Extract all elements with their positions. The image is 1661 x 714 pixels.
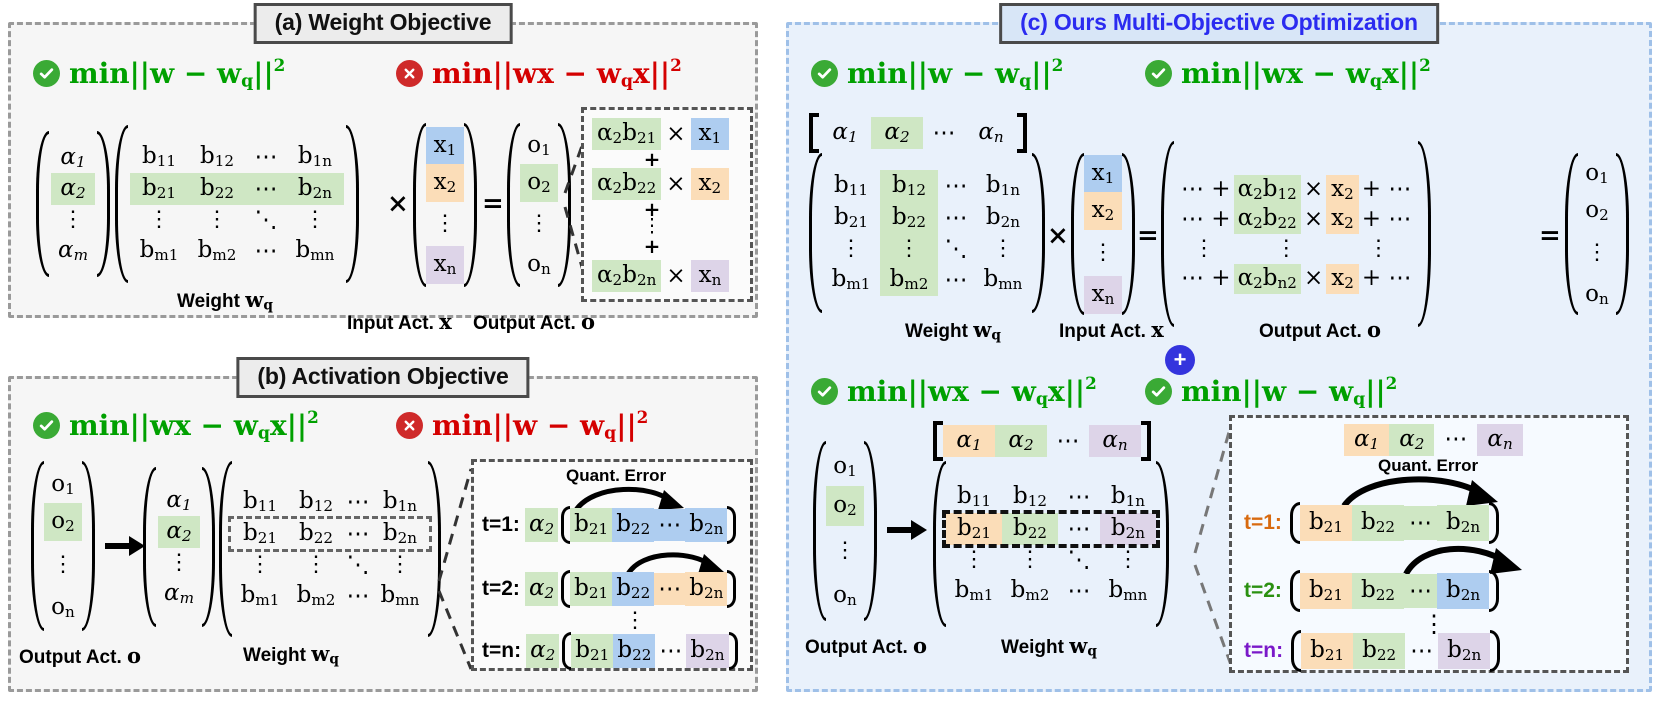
matrix-row: b21 b22 ⋯ b2n bbox=[822, 202, 1032, 234]
cell-x2: x2 bbox=[426, 164, 464, 202]
check-icon bbox=[811, 60, 838, 87]
suffix-plus-dots: + ⋯ bbox=[1359, 175, 1415, 203]
matrix-row: ⋮ ⋮ ⋱ ⋮ bbox=[822, 234, 1032, 264]
cell-o1: o1 bbox=[44, 466, 82, 504]
formula-min-wx-wqx: min||wx − wqx||2 bbox=[847, 373, 1097, 410]
bracket-right bbox=[558, 123, 571, 287]
cell-vdots: ⋮ bbox=[1002, 545, 1058, 574]
cell-bm2: bm2 bbox=[1002, 575, 1058, 607]
cell-hdots: ⋯ bbox=[655, 635, 686, 667]
cell-o2: o2 bbox=[520, 164, 558, 202]
bracket-left bbox=[809, 153, 822, 313]
cell-hdots: ⋯ bbox=[246, 236, 286, 266]
cell-hdots: ⋯ bbox=[246, 174, 286, 204]
panel-b-objective-weight: min||w − wq||2 bbox=[396, 407, 648, 444]
cell-hdots: ⋯ bbox=[654, 573, 685, 605]
coef-a2b12: α2b12 bbox=[1234, 175, 1301, 205]
cell-vdots: ⋮ bbox=[1100, 545, 1156, 574]
cell-b11: b11 bbox=[232, 486, 288, 518]
cell-x2: x2 bbox=[1326, 175, 1359, 205]
cell-xn: xn bbox=[691, 260, 730, 292]
inset-alpha-row: α1 α2 ⋯ αn bbox=[1344, 424, 1523, 456]
cross-icon bbox=[396, 412, 423, 439]
cross-icon bbox=[396, 60, 423, 87]
bracket-left bbox=[561, 570, 570, 608]
suffix-plus-dots: + ⋯ bbox=[1359, 264, 1415, 292]
cell-ddots: ⋱ bbox=[344, 550, 372, 580]
formula-min-w-wq: min||w − wq||2 bbox=[432, 407, 648, 444]
coef-a2b22: α2b22 bbox=[1234, 204, 1301, 234]
cell-hdots: ⋯ bbox=[1058, 482, 1100, 512]
cell-vdots: ⋮ bbox=[1084, 230, 1122, 275]
cell-b2n: b2n bbox=[286, 173, 344, 205]
panel-c-top-weight-caption: Weight wq bbox=[905, 317, 1001, 344]
cell-vdots: ⋮ bbox=[974, 234, 1032, 263]
bracket-left bbox=[413, 123, 426, 287]
expansion-row-1: ⋯ + α2b12 × x2 + ⋯ bbox=[1178, 175, 1414, 205]
bracket-left bbox=[1290, 570, 1300, 612]
arrow-right-icon bbox=[885, 515, 929, 545]
cell-alpha1: α1 bbox=[51, 142, 95, 174]
matrix-row-highlighted: b21 b22 ⋯ b2n bbox=[946, 513, 1156, 545]
panel-ours-multi-objective: (c) Ours Multi-Objective Optimization mi… bbox=[786, 22, 1652, 692]
expansion-row-dots: ⋮ ⋮ ⋮ bbox=[1178, 234, 1414, 263]
bracket-right bbox=[1032, 153, 1045, 313]
cell-hdots: ⋯ bbox=[1404, 506, 1437, 540]
vdots: ⋮ bbox=[592, 218, 712, 235]
bracket-left bbox=[1071, 153, 1084, 315]
panel-c-top-objective-activation: min||wx − wqx||2 bbox=[1145, 55, 1431, 92]
panel-c-title: (c) Ours Multi-Objective Optimization bbox=[999, 3, 1439, 44]
cell-hdots: ⋯ bbox=[654, 509, 685, 541]
matrix-row: b11 b12 ⋯ b1n bbox=[946, 481, 1156, 513]
bracket-left bbox=[219, 461, 232, 637]
matrix-row: bm1 bm2 ⋯ bmn bbox=[130, 235, 344, 267]
bracket-right bbox=[1418, 141, 1431, 327]
cell-alpha1: α1 bbox=[158, 485, 200, 517]
panel-c-top-alpha-row: α1 α2 ⋯ αn bbox=[809, 113, 1027, 153]
bracket-right bbox=[464, 123, 477, 287]
bracket-right bbox=[82, 461, 95, 631]
prefix-dots-plus: ⋯ + bbox=[1178, 175, 1234, 203]
bracket-right bbox=[1490, 630, 1500, 672]
cell-vdots: ⋮ bbox=[822, 234, 880, 263]
panel-a-expansion-inset: α2b21 × x1 + α2b22 × x2 + ⋮ + α2b2n × xn bbox=[581, 107, 753, 302]
cell-b22: b22 bbox=[1353, 633, 1405, 669]
cell-vdots: ⋮ bbox=[372, 550, 428, 579]
cell-x2: x2 bbox=[1326, 204, 1359, 234]
cell-b2n: b2n bbox=[974, 202, 1032, 234]
cell-b11: b11 bbox=[130, 141, 188, 173]
cell-alpha2: α2 bbox=[526, 634, 559, 668]
panel-a-title: (a) Weight Objective bbox=[254, 3, 513, 44]
panel-c-bottom-objective-activation: min||wx − wqx||2 bbox=[811, 373, 1097, 410]
cell-vdots: ⋮ bbox=[1178, 234, 1230, 263]
cell-bm2: bm2 bbox=[880, 264, 938, 296]
arrow-right-icon bbox=[103, 531, 147, 561]
bracket-right bbox=[1122, 153, 1135, 315]
panel-c-bottom-steps-inset: α1 α2 ⋯ αn Quant. Error t=1: b21 b22 bbox=[1229, 415, 1629, 673]
panel-c-top-objective-weight: min||w − wq||2 bbox=[811, 55, 1063, 92]
cell-alphan: αn bbox=[1477, 424, 1522, 456]
cell-o2: o2 bbox=[826, 486, 864, 526]
bracket-left bbox=[1161, 141, 1174, 327]
cell-bm2: bm2 bbox=[288, 580, 344, 612]
panel-c-bottom-weight-caption: Weight wq bbox=[1001, 633, 1097, 660]
cell-hdots: ⋯ bbox=[938, 265, 974, 295]
cell-b21: b21 bbox=[822, 202, 880, 234]
bracket-left bbox=[561, 506, 570, 544]
panel-c-top-input-activation: x1 x2 ⋮ xn bbox=[1071, 153, 1135, 315]
cell-b1n: b1n bbox=[974, 170, 1032, 202]
bracket-left bbox=[143, 467, 156, 627]
cell-b22: b22 bbox=[1002, 513, 1058, 545]
panel-c-bottom-output-activation: o1 o2 ⋮ on bbox=[813, 441, 877, 621]
cell-on: on bbox=[520, 246, 558, 284]
cell-b21: b21 bbox=[570, 572, 612, 606]
cell-alpha1: α1 bbox=[819, 117, 871, 149]
cell-b2n: b2n bbox=[1437, 505, 1489, 541]
panel-c-bottom-objective-weight: min||w − wq||2 bbox=[1145, 373, 1397, 410]
check-icon bbox=[1145, 60, 1172, 87]
panel-b-objective-activation: min||wx − wqx||2 bbox=[33, 407, 319, 444]
coef-a2b22: α2b22 bbox=[592, 168, 661, 200]
bracket-left bbox=[1290, 502, 1300, 544]
cell-bmn: bmn bbox=[372, 580, 428, 612]
panel-a-output-activation: o1 o2 ⋮ on bbox=[507, 123, 571, 287]
cell-b22: b22 bbox=[613, 634, 655, 668]
cell-bm1: bm1 bbox=[232, 580, 288, 612]
times-operator: × bbox=[1301, 264, 1326, 292]
panel-a-input-caption: Input Act. x bbox=[347, 309, 452, 335]
bracket-right bbox=[864, 441, 877, 621]
bracket-left bbox=[507, 123, 520, 287]
bracket-left bbox=[562, 632, 571, 670]
cell-alphan: αn bbox=[965, 117, 1017, 149]
panel-a-alpha-vector: α1 α2 ⋮ αm bbox=[36, 131, 110, 277]
cell-x1: x1 bbox=[1084, 155, 1122, 193]
bracket-left bbox=[31, 461, 44, 631]
cell-vdots: ⋮ bbox=[286, 205, 344, 234]
cell-o1: o1 bbox=[826, 447, 864, 487]
cell-hdots: ⋯ bbox=[1047, 426, 1089, 456]
matrix-row-highlighted: b21 b22 ⋯ b2n bbox=[232, 518, 428, 550]
check-icon bbox=[33, 412, 60, 439]
bracket-left bbox=[813, 441, 826, 621]
bracket-left bbox=[115, 125, 128, 283]
cell-on: on bbox=[1578, 276, 1616, 314]
cell-hdots: ⋯ bbox=[1404, 574, 1437, 608]
bracket-right bbox=[346, 125, 359, 283]
bracket-left bbox=[933, 421, 943, 461]
panel-a-objective-activation: min||wx − wqx||2 bbox=[396, 55, 682, 92]
cell-b1n: b1n bbox=[372, 486, 428, 518]
cell-alpha2: α2 bbox=[525, 572, 558, 606]
matrix-row: bm1 bm2 ⋯ bmn bbox=[822, 264, 1032, 296]
bracket-right bbox=[1017, 113, 1027, 153]
cell-vdots: ⋮ bbox=[826, 526, 864, 575]
times-operator: × bbox=[387, 189, 409, 219]
bracket-right bbox=[729, 632, 738, 670]
cell-b21: b21 bbox=[1300, 573, 1352, 609]
bracket-right bbox=[1489, 570, 1499, 612]
cell-hdots: ⋯ bbox=[1405, 634, 1438, 668]
cell-b12: b12 bbox=[288, 486, 344, 518]
cell-hdots: ⋯ bbox=[1058, 576, 1100, 606]
panel-b-weight-caption: Weight wq bbox=[243, 641, 339, 668]
cell-bm1: bm1 bbox=[946, 575, 1002, 607]
cell-b2n: b2n bbox=[1438, 633, 1490, 669]
formula-min-w-wq: min||w − wq||2 bbox=[69, 55, 285, 92]
bracket-right bbox=[1489, 502, 1499, 544]
matrix-row: b11 b12 ⋯ b1n bbox=[130, 141, 344, 173]
bracket-right bbox=[727, 506, 736, 544]
equals-operator: = bbox=[482, 189, 504, 219]
cell-alphan: αn bbox=[1089, 425, 1141, 457]
cell-vdots: ⋮ bbox=[158, 548, 200, 577]
step-row-t1: t=1: b21 b22 ⋯ b2n bbox=[1244, 502, 1499, 544]
matrix-row: ⋮ ⋮ ⋱ ⋮ bbox=[232, 550, 428, 580]
cell-hdots: ⋯ bbox=[344, 581, 372, 611]
bracket-right bbox=[202, 467, 215, 627]
cell-b2n: b2n bbox=[685, 508, 727, 542]
cell-xn: xn bbox=[426, 246, 464, 284]
panel-b-title: (b) Activation Objective bbox=[236, 357, 529, 398]
panel-b-output-caption: Output Act. o bbox=[19, 643, 141, 669]
step-row-tn: t=n: b21 b22 ⋯ b2n bbox=[1244, 630, 1500, 672]
cell-o1: o1 bbox=[1578, 155, 1616, 193]
cell-b22: b22 bbox=[1352, 573, 1404, 609]
cell-bmn: bmn bbox=[1100, 575, 1156, 607]
panel-c-top-output-activation: o1 o2 ⋮ on bbox=[1565, 153, 1629, 315]
cell-b21: b21 bbox=[1301, 633, 1353, 669]
check-icon bbox=[811, 378, 838, 405]
cell-b2n: b2n bbox=[685, 572, 727, 606]
cell-b12: b12 bbox=[880, 170, 938, 202]
cell-b2n: b2n bbox=[686, 634, 728, 668]
cell-vdots: ⋮ bbox=[520, 202, 558, 245]
cell-alpha2: α2 bbox=[995, 425, 1047, 457]
figure-root: (a) Weight Objective min||w − wq||2 min|… bbox=[0, 0, 1661, 714]
cell-o2: o2 bbox=[1578, 192, 1616, 230]
times-operator: × bbox=[1047, 221, 1069, 251]
cell-b11: b11 bbox=[946, 481, 1002, 513]
cell-bmn: bmn bbox=[974, 264, 1032, 296]
cell-b22: b22 bbox=[1352, 505, 1404, 541]
cell-hdots: ⋯ bbox=[1434, 424, 1477, 456]
cell-ddots: ⋱ bbox=[938, 234, 974, 264]
cell-vdots: ⋮ bbox=[188, 205, 246, 234]
suffix-plus-dots: + ⋯ bbox=[1359, 205, 1415, 233]
expansion-row-n: ⋯ + α2bn2 × x2 + ⋯ bbox=[1178, 264, 1414, 294]
cell-on: on bbox=[44, 589, 82, 627]
cell-b22: b22 bbox=[612, 508, 654, 542]
cell-vdots: ⋮ bbox=[288, 550, 344, 579]
cell-x1: x1 bbox=[426, 127, 464, 165]
cell-x2: x2 bbox=[691, 168, 730, 200]
equals-operator: = bbox=[1137, 221, 1159, 251]
panel-b-weight-matrix: b11 b12 ⋯ b1n b21 b22 ⋯ b2n ⋮ ⋮ ⋱ ⋮ bbox=[219, 461, 441, 637]
cell-b21: b21 bbox=[1300, 505, 1352, 541]
cell-o2: o2 bbox=[44, 503, 82, 541]
cell-b21: b21 bbox=[571, 634, 613, 668]
cell-alpha2: α2 bbox=[1389, 424, 1434, 456]
formula-min-w-wq: min||w − wq||2 bbox=[847, 55, 1063, 92]
bracket-left bbox=[809, 113, 819, 153]
expansion-term-2: α2b22 × x2 bbox=[592, 168, 729, 200]
cell-b22: b22 bbox=[612, 572, 654, 606]
panel-activation-objective: (b) Activation Objective min||wx − wqx||… bbox=[8, 376, 758, 692]
coef-a2b2n: α2b2n bbox=[592, 260, 661, 292]
matrix-row: b11 b12 ⋯ b1n bbox=[232, 486, 428, 518]
cell-vdots: ⋮ bbox=[44, 541, 82, 588]
cell-alpha2: α2 bbox=[871, 117, 923, 149]
cell-vdots: ⋮ bbox=[1238, 234, 1334, 263]
cell-xn: xn bbox=[1084, 276, 1122, 314]
cell-ddots: ⋱ bbox=[246, 205, 286, 235]
matrix-row: bm1 bm2 ⋯ bmn bbox=[946, 575, 1156, 607]
formula-min-wx-wqx: min||wx − wqx||2 bbox=[69, 407, 319, 444]
cell-hdots: ⋯ bbox=[938, 171, 974, 201]
bracket-left bbox=[36, 131, 49, 277]
times-operator: × bbox=[1301, 175, 1326, 203]
prefix-dots-plus: ⋯ + bbox=[1178, 264, 1234, 292]
panel-c-top-input-caption: Input Act. x bbox=[1059, 317, 1164, 343]
cell-b2n: b2n bbox=[372, 518, 428, 550]
cell-b1n: b1n bbox=[286, 141, 344, 173]
cell-b22: b22 bbox=[288, 518, 344, 550]
cell-alpha2: α2 bbox=[158, 516, 200, 548]
plus-operator: + bbox=[592, 234, 712, 258]
step-row-t2: t=2: α2 b21 b22 ⋯ b2n bbox=[482, 570, 736, 608]
panel-b-alpha-vector: α1 α2 ⋮ αm bbox=[143, 467, 215, 627]
times-operator: × bbox=[661, 169, 690, 199]
expansion-row-2: ⋯ + α2b22 × x2 + ⋯ bbox=[1178, 204, 1414, 234]
cell-b21: b21 bbox=[946, 513, 1002, 545]
panel-b-output-activation: o1 o2 ⋮ on bbox=[31, 461, 95, 631]
panel-a-input-activation: x1 x2 ⋮ xn bbox=[413, 123, 477, 287]
cell-b21: b21 bbox=[570, 508, 612, 542]
panel-c-bottom-alpha-row: α1 α2 ⋯ αn bbox=[933, 421, 1151, 461]
cell-bm2: bm2 bbox=[188, 235, 246, 267]
cell-on: on bbox=[826, 576, 864, 616]
cell-alpham: αm bbox=[158, 578, 200, 610]
cell-b1n: b1n bbox=[1100, 481, 1156, 513]
formula-min-w-wq: min||w − wq||2 bbox=[1181, 373, 1397, 410]
cell-b12: b12 bbox=[1002, 481, 1058, 513]
cell-vdots: ⋮ bbox=[946, 545, 1002, 574]
cell-vdots: ⋮ bbox=[1342, 234, 1414, 263]
times-operator: × bbox=[661, 261, 690, 291]
cell-x2: x2 bbox=[1326, 264, 1359, 294]
cell-vdots: ⋮ bbox=[1578, 230, 1616, 275]
cell-x2: x2 bbox=[1084, 192, 1122, 230]
cell-b12: b12 bbox=[188, 141, 246, 173]
cell-vdots: ⋮ bbox=[880, 234, 938, 263]
panel-weight-objective: (a) Weight Objective min||w − wq||2 min|… bbox=[8, 22, 758, 318]
cell-b11: b11 bbox=[822, 170, 880, 202]
formula-min-wx-wqx: min||wx − wqx||2 bbox=[1181, 55, 1431, 92]
cell-hdots: ⋯ bbox=[938, 203, 974, 233]
times-operator: × bbox=[1301, 205, 1326, 233]
cell-bmn: bmn bbox=[286, 235, 344, 267]
vdots: ⋮ bbox=[624, 608, 646, 633]
cell-alpha1: α1 bbox=[943, 425, 995, 457]
cell-vdots: ⋮ bbox=[426, 202, 464, 245]
cell-alpha2: α2 bbox=[51, 173, 95, 205]
step-row-tn: t=n: α2 b21 b22 ⋯ b2n bbox=[482, 632, 738, 670]
panel-a-weight-caption: Weight wq bbox=[177, 287, 273, 314]
check-icon bbox=[1145, 378, 1172, 405]
cell-alpha1: α1 bbox=[1344, 424, 1389, 456]
panel-c-top-output-expansion: ⋯ + α2b12 × x2 + ⋯ ⋯ + α2b22 × x2 + ⋯ ⋮ … bbox=[1161, 141, 1431, 327]
cell-b2n: b2n bbox=[1437, 573, 1489, 609]
matrix-row-highlighted: b21 b22 ⋯ b2n bbox=[130, 173, 344, 205]
step-row-t1: t=1: α2 b21 b22 ⋯ b2n bbox=[482, 506, 736, 544]
panel-c-top-output-caption: Output Act. o bbox=[1259, 317, 1381, 343]
cell-hdots: ⋯ bbox=[923, 118, 965, 148]
bracket-right bbox=[1616, 153, 1629, 315]
cell-hdots: ⋯ bbox=[344, 519, 372, 549]
cell-b21: b21 bbox=[130, 173, 188, 205]
cell-o1: o1 bbox=[520, 127, 558, 165]
matrix-row: ⋮ ⋮ ⋱ ⋮ bbox=[130, 205, 344, 235]
cell-b21: b21 bbox=[232, 518, 288, 550]
check-icon bbox=[33, 60, 60, 87]
equals-operator: = bbox=[1539, 221, 1561, 251]
coef-a2b21: α2b21 bbox=[592, 118, 661, 150]
cell-x1: x1 bbox=[691, 118, 730, 150]
cell-bm1: bm1 bbox=[130, 235, 188, 267]
panel-a-output-caption: Output Act. o bbox=[473, 309, 595, 335]
cell-ddots: ⋱ bbox=[1058, 545, 1100, 575]
cell-vdots: ⋮ bbox=[232, 550, 288, 579]
panel-c-bottom-weight-matrix: b11 b12 ⋯ b1n b21 b22 ⋯ b2n ⋮ ⋮ ⋱ ⋮ bbox=[933, 461, 1169, 627]
cell-hdots: ⋯ bbox=[344, 487, 372, 517]
expansion-term-1: α2b21 × x1 bbox=[592, 118, 729, 150]
matrix-row: bm1 bm2 ⋯ bmn bbox=[232, 580, 428, 612]
step-row-t2: t=2: b21 b22 ⋯ b2n bbox=[1244, 570, 1499, 612]
matrix-row: b11 b12 ⋯ b1n bbox=[822, 170, 1032, 202]
formula-min-wx-wqx: min||wx − wqx||2 bbox=[432, 55, 682, 92]
cell-alpha2: α2 bbox=[525, 508, 558, 542]
cell-hdots: ⋯ bbox=[1058, 514, 1100, 544]
bracket-right bbox=[428, 461, 441, 637]
cell-bm1: bm1 bbox=[822, 264, 880, 296]
cell-b2n: b2n bbox=[1100, 513, 1156, 545]
cell-b22: b22 bbox=[188, 173, 246, 205]
cell-vdots: ⋮ bbox=[51, 205, 95, 234]
panel-c-top-weight-matrix: b11 b12 ⋯ b1n b21 b22 ⋯ b2n ⋮ ⋮ ⋱ ⋮ bbox=[809, 153, 1045, 313]
cell-vdots: ⋮ bbox=[130, 205, 188, 234]
matrix-row: ⋮ ⋮ ⋱ ⋮ bbox=[946, 545, 1156, 575]
panel-a-weight-matrix: b11 b12 ⋯ b1n b21 b22 ⋯ b2n ⋮ ⋮ ⋱ ⋮ bbox=[115, 125, 359, 283]
bracket-left bbox=[1291, 630, 1301, 672]
coef-a2bn2: α2bn2 bbox=[1234, 264, 1301, 294]
cell-b22: b22 bbox=[880, 202, 938, 234]
cell-alpham: αm bbox=[51, 235, 95, 267]
expansion-term-n: α2b2n × xn bbox=[592, 260, 729, 292]
panel-c-bottom-output-caption: Output Act. o bbox=[805, 633, 927, 659]
bracket-right bbox=[1141, 421, 1151, 461]
times-operator: × bbox=[661, 119, 690, 149]
plus-badge-icon: + bbox=[1165, 345, 1195, 375]
panel-a-objective-weight: min||w − wq||2 bbox=[33, 55, 285, 92]
panel-b-steps-inset: Quant. Error t=1: α2 b21 b22 ⋯ b2n bbox=[471, 459, 753, 671]
cell-hdots: ⋯ bbox=[246, 142, 286, 172]
bracket-right bbox=[97, 131, 110, 277]
bracket-right bbox=[1156, 461, 1169, 627]
